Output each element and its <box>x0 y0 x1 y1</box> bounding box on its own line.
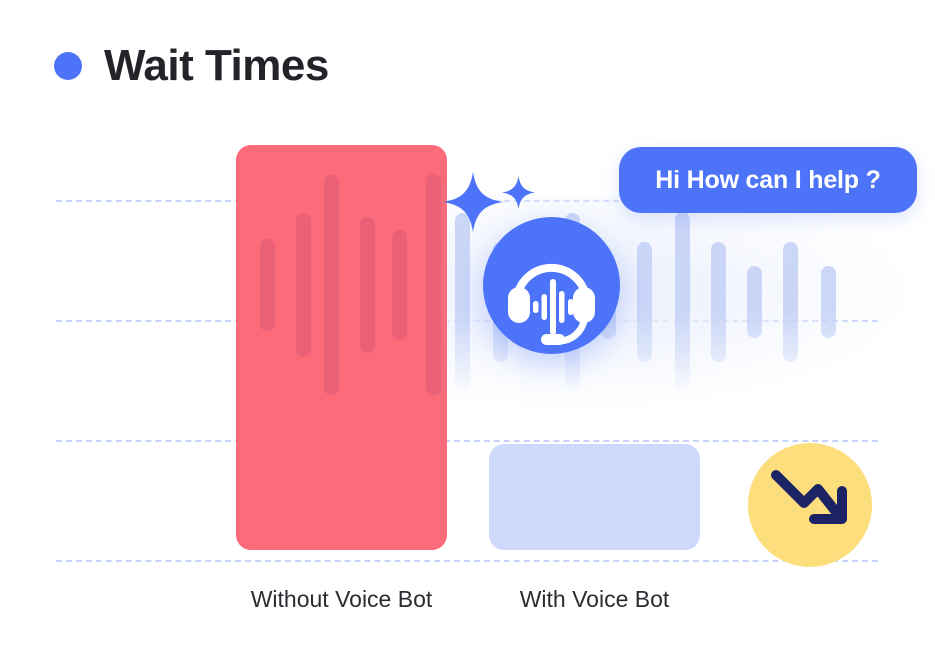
chat-bubble[interactable]: Hi How can I help ? <box>619 147 917 213</box>
waveform-bar <box>260 239 275 331</box>
chat-bubble-text: Hi How can I help ? <box>655 166 880 195</box>
waveform-bar <box>426 174 441 396</box>
bar-with-voice-bot[interactable] <box>489 444 700 550</box>
waveform-bar <box>675 212 690 392</box>
gridline <box>56 440 878 442</box>
waveform-bar <box>324 175 339 395</box>
waveform-bar <box>637 242 652 362</box>
waveform-bar <box>747 266 762 338</box>
waveform-bar <box>821 266 836 338</box>
waveform-bar <box>360 217 375 353</box>
waveform-bar <box>711 242 726 362</box>
waveform-bar <box>455 213 470 391</box>
sparkle-star-small-icon <box>502 176 535 209</box>
bar-without-voice-bot[interactable] <box>236 145 447 550</box>
waveform-bar <box>783 242 798 362</box>
headset-support-icon[interactable] <box>483 217 620 354</box>
waveform-bar <box>296 213 311 357</box>
waveform-bar <box>392 230 407 340</box>
category-label-without-voice-bot: Without Voice Bot <box>236 586 447 613</box>
trend-down-arrow-icon <box>748 443 872 567</box>
chart-canvas: Wait Times <box>0 0 935 663</box>
category-label-with-voice-bot: With Voice Bot <box>489 586 700 613</box>
waveform-inside-bar <box>236 145 447 550</box>
